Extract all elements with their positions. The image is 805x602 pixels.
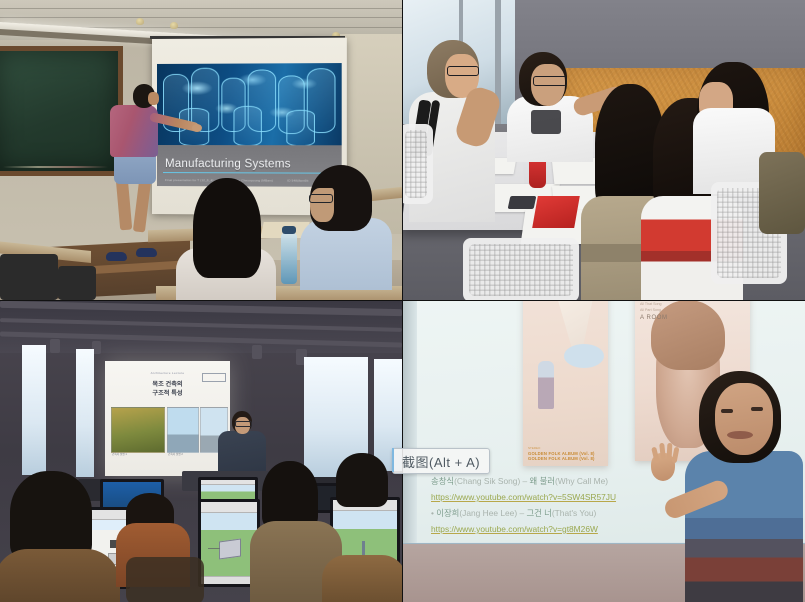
ceiling-speaker: [50, 339, 60, 353]
bullet-song-en: (Why Call Me): [555, 476, 608, 486]
chair: [0, 254, 58, 300]
sketchup-toolbar[interactable]: [201, 480, 255, 485]
bullet-artist-kr: 송창식: [431, 476, 454, 486]
ceiling-lamp: [170, 22, 178, 29]
slide-subtitle-right: ID 548(8am9b: [287, 179, 308, 183]
screenshot-shortcut-tooltip[interactable]: 截图(Alt + A): [392, 448, 490, 474]
glasses-icon: [235, 421, 252, 427]
album-small-label: STEREO: [528, 446, 540, 450]
ceiling-speaker: [252, 345, 262, 359]
sketchup-guide: [208, 548, 220, 549]
slide-photo-test-tubes: [157, 63, 342, 145]
student-hair: [193, 178, 261, 278]
photo-collage: Manufacturing Systems Final presentation…: [0, 0, 805, 602]
slide-thumbnail-caption: 건축사 설명 2: [168, 453, 183, 457]
album-track-line: All That Song: [640, 302, 662, 307]
mesh-chair: [463, 238, 579, 300]
slide-header: Architecture Lecture: [151, 371, 185, 375]
sketchup-viewport[interactable]: [201, 502, 257, 584]
slide-title-line2: 구조적 특성: [152, 388, 182, 397]
glasses-icon: [447, 66, 479, 76]
slide-subtitle-row: Final presentation for T (12_8_4) Made b…: [165, 178, 336, 183]
sketchup-statusbar: [201, 576, 257, 584]
photo-top-right: [403, 0, 805, 300]
lecturer-eye: [751, 407, 763, 411]
chalkboard: [0, 46, 123, 176]
lecturer-mouth: [727, 431, 753, 439]
bullet-song-kr: 그건 너: [526, 508, 551, 518]
ceiling-lamp: [136, 18, 144, 25]
ceiling-line: [0, 8, 402, 9]
student-hair: [10, 471, 92, 561]
student-body: [322, 555, 402, 602]
presenter-hand: [192, 124, 202, 132]
tooltip-accent-bar: [392, 448, 394, 472]
presenter-face: [148, 92, 159, 105]
bullet-song-en: (That's You): [552, 508, 596, 518]
water-bottle: [281, 232, 297, 284]
backpack: [759, 152, 805, 234]
album-art-hair: [651, 301, 725, 370]
chair: [58, 266, 96, 300]
album-stereo-label: STEREO All That Song All Part Song: [640, 301, 662, 313]
ceiling-line: [0, 17, 402, 18]
window: [76, 349, 94, 477]
album-title: A ROOM: [640, 315, 668, 321]
bullet-artist-kr: 이장희: [436, 508, 459, 518]
student-body: [0, 549, 120, 602]
sketchup-figure: [362, 541, 365, 555]
album-art-ellipse: [564, 344, 604, 368]
photo-top-left: Manufacturing Systems Final presentation…: [0, 0, 402, 300]
lecturer-face: [715, 383, 773, 455]
panel-lecture-hall-student-presentation: Manufacturing Systems Final presentation…: [0, 0, 402, 300]
slide-subtitle-left: Final presentation for T (12_8_4): [165, 178, 213, 182]
glasses-icon: [533, 76, 567, 86]
slide-thumbnail-photo: [167, 407, 199, 453]
chair-back: [126, 557, 204, 602]
window: [22, 345, 46, 475]
monitor-screen[interactable]: [201, 502, 257, 584]
bottle-cap: [282, 226, 296, 234]
projection-screen: Architecture Lecture 목조 건축의 구조적 특성 건축사 설…: [105, 361, 230, 476]
mesh-chair: [403, 124, 433, 204]
student-hair: [336, 453, 388, 507]
slide-thumbnail-caption: 건축사 설명 1: [112, 453, 127, 457]
slide-badge: [202, 373, 226, 382]
sketchup-model-box[interactable]: [219, 538, 241, 560]
red-notebook: [532, 196, 580, 228]
student-hair: [262, 461, 318, 529]
panel-computer-lab-lecture: Architecture Lecture 목조 건축의 구조적 특성 건축사 설…: [0, 301, 402, 602]
shirt-graphic: [531, 110, 561, 134]
smartphone: [508, 196, 537, 209]
bullet-song-kr: 왜 불러: [530, 476, 555, 486]
presenter-shoe: [136, 248, 157, 257]
album-cover-left: STEREO GOLDEN FOLK ALBUM (Vol. 8) GOLDEN…: [523, 301, 608, 466]
album-track-line: All Part Song: [640, 308, 662, 313]
slide-title: Manufacturing Systems: [165, 158, 291, 170]
sketchup-toolbar[interactable]: [201, 502, 257, 513]
lecturer-body: [685, 451, 803, 602]
presenter-shoe: [106, 252, 127, 261]
glasses-icon: [309, 194, 333, 203]
lecturer-eye: [721, 409, 733, 413]
panel-group-discussion-around-table: [403, 0, 805, 300]
photo-bottom-left: Architecture Lecture 목조 건축의 구조적 특성 건축사 설…: [0, 301, 402, 602]
bullet-artist-en: (Chang Sik Song) –: [454, 476, 529, 486]
slide-title-line1: 목조 건축의: [152, 379, 182, 388]
album-title-line2: GOLDEN FOLK ALBUM (Vol. 8): [528, 456, 604, 461]
album-art-figure: [538, 361, 554, 409]
bullet-artist-en: (Jang Hee Lee) –: [459, 508, 526, 518]
slide-thumbnail-photo: [111, 407, 165, 453]
